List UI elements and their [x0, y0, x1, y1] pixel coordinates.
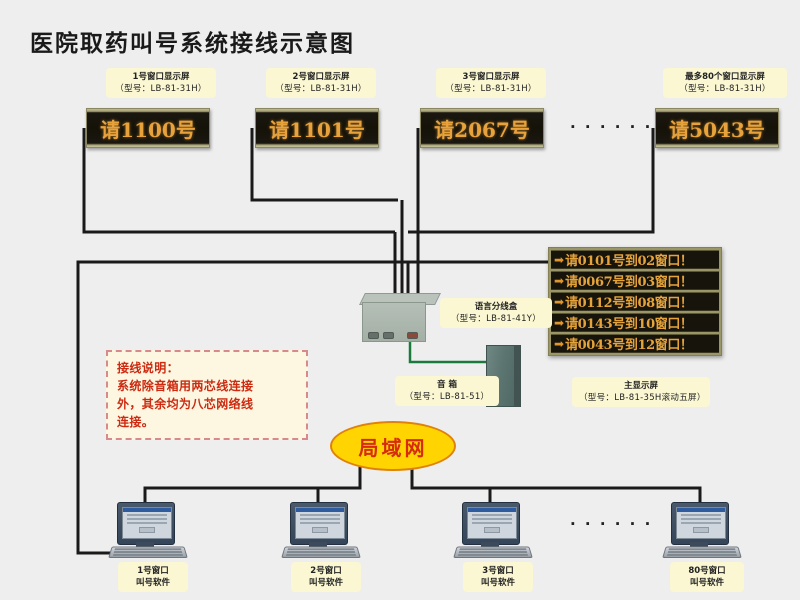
- computer-1[interactable]: [110, 502, 184, 560]
- speaker-side-edge: [514, 346, 520, 406]
- junction-box-port-audio: [407, 332, 418, 339]
- screen-icon: [467, 507, 517, 539]
- caption-junction-box: 语言分线盒 （型号：LB-81-41Y）: [440, 298, 552, 328]
- wiring-note-line2: 系统除音箱用两芯线连接: [117, 377, 297, 395]
- lan-node[interactable]: 局域网: [330, 421, 456, 471]
- caption-main-display: 主显示屏 （型号：LB-81-35H滚动五屏）: [572, 377, 710, 407]
- led-display-80[interactable]: 请5043号: [655, 108, 779, 148]
- caption-computer-80-line2: 叫号软件: [677, 577, 737, 589]
- led-display-3-text: 请2067号: [434, 114, 530, 143]
- keyboard-icon: [453, 547, 533, 558]
- monitor-icon: [462, 502, 520, 545]
- caption-computer-3: 3号窗口 叫号软件: [463, 562, 533, 592]
- caption-computer-80: 80号窗口 叫号软件: [670, 562, 744, 592]
- computer-2[interactable]: [283, 502, 357, 560]
- monitor-icon: [671, 502, 729, 545]
- caption-speaker: 音 箱 （型号：LB-81-51）: [395, 376, 499, 406]
- caption-display-80: 最多80个窗口显示屏 （型号：LB-81-31H）: [663, 68, 787, 98]
- led-display-2[interactable]: 请1101号: [255, 108, 379, 148]
- caption-display-80-line1: 最多80个窗口显示屏: [670, 71, 780, 83]
- wiring-note-box: 接线说明： 系统除音箱用两芯线连接 外，其余均为八芯网络线 连接。: [106, 350, 308, 440]
- led-display-80-text: 请5043号: [669, 114, 765, 143]
- main-display-row-5: ➡ 请0043号到12窗口！: [551, 334, 719, 353]
- computer-3[interactable]: [455, 502, 529, 560]
- caption-junction-box-line2: （型号：LB-81-41Y）: [447, 313, 545, 325]
- caption-computer-3-line1: 3号窗口: [470, 565, 526, 577]
- caption-computer-1: 1号窗口 叫号软件: [118, 562, 188, 592]
- keyboard-icon: [108, 547, 188, 558]
- caption-display-1: 1号窗口显示屏 （型号：LB-81-31H）: [106, 68, 216, 98]
- caption-computer-80-line1: 80号窗口: [677, 565, 737, 577]
- screen-icon: [295, 507, 345, 539]
- caption-display-2: 2号窗口显示屏 （型号：LB-81-31H）: [266, 68, 376, 98]
- caption-speaker-line1: 音 箱: [402, 379, 492, 391]
- caption-main-display-line1: 主显示屏: [579, 380, 703, 392]
- junction-box-front-face: [362, 302, 426, 342]
- caption-computer-2-line1: 2号窗口: [298, 565, 354, 577]
- caption-display-3: 3号窗口显示屏 （型号：LB-81-31H）: [436, 68, 546, 98]
- main-display-row-4: ➡ 请0143号到10窗口！: [551, 313, 719, 332]
- caption-display-1-line1: 1号窗口显示屏: [113, 71, 209, 83]
- main-display-row-3-text: 请0112号到08窗口！: [565, 292, 692, 311]
- arrow-icon: ➡: [554, 317, 564, 329]
- arrow-icon: ➡: [554, 296, 564, 308]
- main-display-row-5-text: 请0043号到12窗口！: [565, 334, 692, 353]
- caption-display-3-line2: （型号：LB-81-31H）: [443, 83, 539, 95]
- monitor-icon: [117, 502, 175, 545]
- diagram-canvas: 医院取药叫号系统接线示意图 1号窗口显示屏 （型号：LB-81-31H） 2号窗…: [0, 0, 800, 600]
- voice-junction-box[interactable]: [362, 293, 440, 343]
- arrow-icon: ➡: [554, 338, 564, 350]
- page-title: 医院取药叫号系统接线示意图: [30, 24, 355, 58]
- keyboard-icon: [662, 547, 742, 558]
- screen-icon: [676, 507, 726, 539]
- caption-main-display-line2: （型号：LB-81-35H滚动五屏）: [579, 392, 703, 404]
- computer-80[interactable]: [664, 502, 738, 560]
- ellipsis-top: · · · · · ·: [570, 118, 652, 136]
- led-display-1[interactable]: 请1100号: [86, 108, 210, 148]
- caption-display-80-line2: （型号：LB-81-31H）: [670, 83, 780, 95]
- main-display-row-1: ➡ 请0101号到02窗口！: [551, 250, 719, 269]
- caption-speaker-line2: （型号：LB-81-51）: [402, 391, 492, 403]
- caption-display-3-line1: 3号窗口显示屏: [443, 71, 539, 83]
- caption-computer-1-line1: 1号窗口: [125, 565, 181, 577]
- led-display-3[interactable]: 请2067号: [420, 108, 544, 148]
- main-display-row-2-text: 请0067号到03窗口！: [565, 271, 692, 290]
- main-display-row-3: ➡ 请0112号到08窗口！: [551, 292, 719, 311]
- junction-box-port-1: [368, 332, 379, 339]
- caption-junction-box-line1: 语言分线盒: [447, 301, 545, 313]
- lan-label: 局域网: [359, 432, 428, 461]
- main-display-row-4-text: 请0143号到10窗口！: [565, 313, 692, 332]
- wiring-note-line4: 连接。: [117, 413, 297, 431]
- caption-computer-2-line2: 叫号软件: [298, 577, 354, 589]
- monitor-icon: [290, 502, 348, 545]
- caption-computer-2: 2号窗口 叫号软件: [291, 562, 361, 592]
- caption-display-2-line1: 2号窗口显示屏: [273, 71, 369, 83]
- main-display-row-1-text: 请0101号到02窗口！: [565, 250, 692, 269]
- led-display-2-text: 请1101号: [269, 114, 365, 143]
- caption-computer-3-line2: 叫号软件: [470, 577, 526, 589]
- ellipsis-bottom: · · · · · ·: [570, 515, 652, 533]
- keyboard-icon: [281, 547, 361, 558]
- wire-audio-speaker: [410, 342, 487, 362]
- junction-box-port-2: [383, 332, 394, 339]
- caption-display-1-line2: （型号：LB-81-31H）: [113, 83, 209, 95]
- caption-computer-1-line2: 叫号软件: [125, 577, 181, 589]
- main-rolling-display[interactable]: ➡ 请0101号到02窗口！ ➡ 请0067号到03窗口！ ➡ 请0112号到0…: [548, 247, 722, 356]
- led-display-1-text: 请1100号: [100, 114, 196, 143]
- main-display-row-2: ➡ 请0067号到03窗口！: [551, 271, 719, 290]
- wiring-note-line1: 接线说明：: [117, 359, 297, 377]
- arrow-icon: ➡: [554, 275, 564, 287]
- caption-display-2-line2: （型号：LB-81-31H）: [273, 83, 369, 95]
- screen-icon: [122, 507, 172, 539]
- wiring-note-line3: 外，其余均为八芯网络线: [117, 395, 297, 413]
- arrow-icon: ➡: [554, 254, 564, 266]
